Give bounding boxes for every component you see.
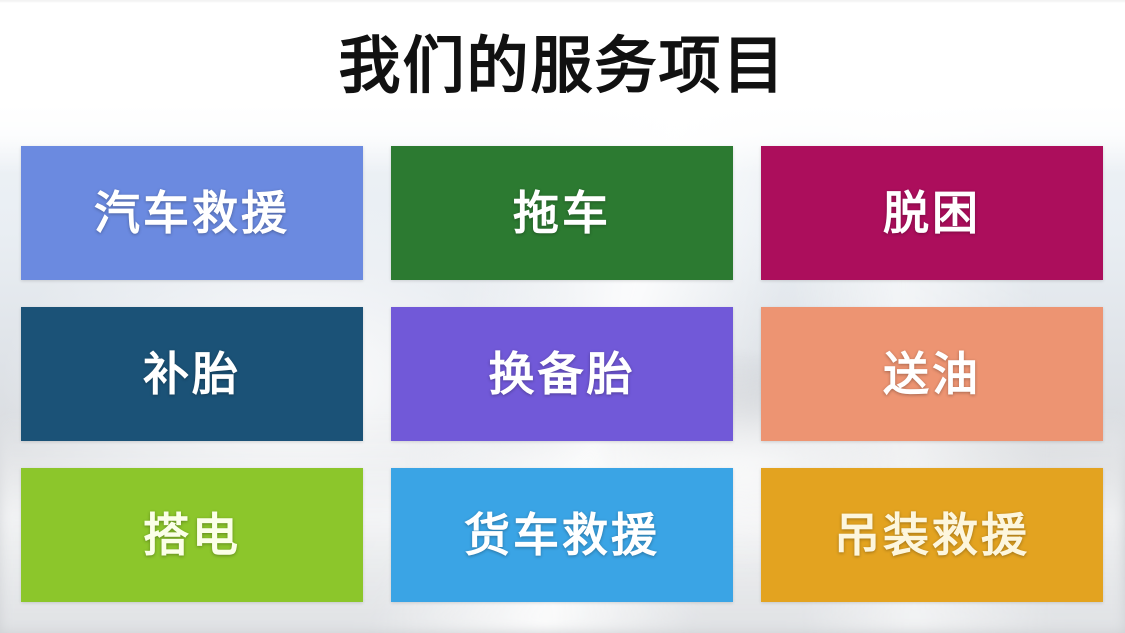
service-tile-car-rescue[interactable]: 汽车救援	[21, 146, 363, 280]
service-tile-truck-rescue[interactable]: 货车救援	[391, 468, 733, 602]
service-tile-lifting-rescue[interactable]: 吊装救援	[761, 468, 1103, 602]
service-tile-towing[interactable]: 拖车	[391, 146, 733, 280]
service-tile-label: 补胎	[143, 351, 241, 397]
service-tile-label: 汽车救援	[94, 190, 290, 236]
title-band: 我们的服务项目	[0, 0, 1125, 132]
service-tile-label: 脱困	[883, 190, 981, 236]
service-tile-label: 换备胎	[489, 351, 636, 397]
service-items-slide: 我们的服务项目 汽车救援 拖车 脱困 补胎 换备胎 送油 搭电 货车救援 吊装救…	[0, 0, 1125, 633]
service-tile-label: 货车救援	[464, 512, 660, 558]
service-tile-label: 拖车	[513, 190, 611, 236]
service-tile-fuel-delivery[interactable]: 送油	[761, 307, 1103, 441]
service-tile-tire-repair[interactable]: 补胎	[21, 307, 363, 441]
service-tile-extrication[interactable]: 脱困	[761, 146, 1103, 280]
service-tile-grid: 汽车救援 拖车 脱困 补胎 换备胎 送油 搭电 货车救援 吊装救援	[21, 146, 1104, 602]
service-tile-label: 搭电	[143, 512, 241, 558]
service-tile-label: 送油	[883, 351, 981, 397]
service-tile-label: 吊装救援	[834, 512, 1030, 558]
service-tile-jump-start[interactable]: 搭电	[21, 468, 363, 602]
page-title: 我们的服务项目	[338, 35, 786, 97]
service-tile-spare-tire-change[interactable]: 换备胎	[391, 307, 733, 441]
